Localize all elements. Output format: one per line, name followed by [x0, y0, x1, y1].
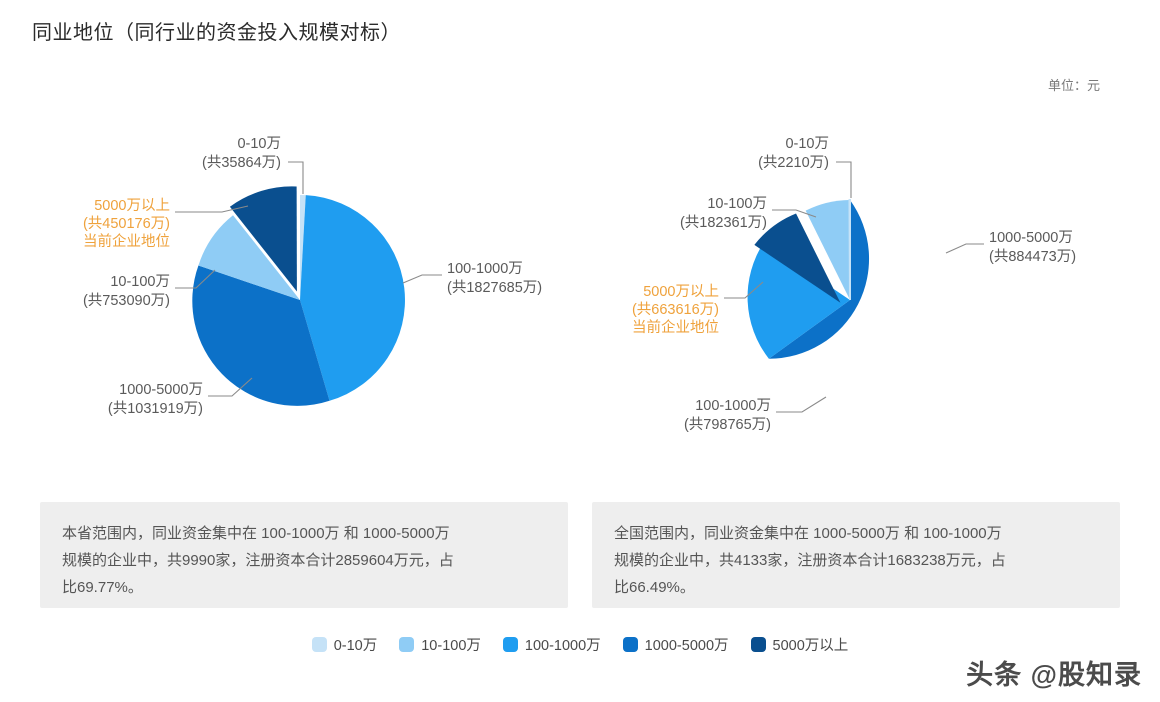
chart-legend: 0-10万 10-100万 100-1000万 1000-5000万 5000万… — [0, 634, 1160, 655]
legend-item-label: 0-10万 — [334, 634, 378, 655]
summary-note-national: 全国范围内，同业资金集中在 1000-5000万 和 100-1000万 规模的… — [592, 502, 1120, 608]
leader-line-100-1000 — [403, 275, 442, 283]
legend-item-1000-5000[interactable]: 1000-5000万 — [623, 634, 729, 655]
legend-item-label: 10-100万 — [421, 634, 481, 655]
legend-swatch-icon — [751, 637, 766, 652]
pie-chart-national: 0-10万 (共2210万) 10-100万 (共182361万) 5000万以… — [580, 120, 1160, 480]
summary-note-province-line2: 规模的企业中，共9990家，注册资本合计2859604万元，占 — [62, 547, 546, 574]
label-0-10-line2: (共35864万) — [202, 154, 281, 171]
legend-item-label: 1000-5000万 — [645, 634, 729, 655]
label-100-1000-line1: 100-1000万 — [695, 398, 771, 414]
label-5000-up-line2: (共450176万) — [83, 215, 170, 232]
label-0-10-line1: 0-10万 — [785, 136, 829, 152]
legend-item-5000-up[interactable]: 5000万以上 — [751, 634, 849, 655]
legend-swatch-icon — [312, 637, 327, 652]
label-1000-5000-line2: (共884473万) — [989, 248, 1076, 265]
legend-item-label: 100-1000万 — [525, 634, 601, 655]
label-10-100-line1: 10-100万 — [110, 274, 170, 290]
label-100-1000-line2: (共1827685万) — [447, 279, 542, 296]
label-5000-up-line1: 5000万以上 — [94, 197, 170, 214]
label-5000-up-line3: 当前企业地位 — [632, 318, 719, 336]
legend-swatch-icon — [623, 637, 638, 652]
pie-chart-province: 0-10万 (共35864万) 5000万以上 (共450176万) 当前企业地… — [0, 120, 580, 480]
pie-svg-national: 0-10万 (共2210万) 10-100万 (共182361万) 5000万以… — [580, 120, 1160, 480]
summary-note-national-line2: 规模的企业中，共4133家，注册资本合计1683238万元，占 — [614, 547, 1098, 574]
summary-note-province-line1: 本省范围内，同业资金集中在 100-1000万 和 1000-5000万 — [62, 520, 546, 547]
label-10-100-line2: (共753090万) — [83, 292, 170, 309]
unit-label: 单位：元 — [1048, 75, 1100, 94]
label-100-1000-line1: 100-1000万 — [447, 261, 523, 277]
summary-note-province-line3: 比69.77%。 — [62, 574, 546, 601]
leader-line-100-1000 — [776, 397, 826, 412]
watermark: 头条 @股知录 — [966, 653, 1142, 692]
label-5000-up-line2: (共663616万) — [632, 301, 719, 318]
label-0-10-line2: (共2210万) — [758, 154, 829, 171]
legend-swatch-icon — [399, 637, 414, 652]
leader-line-1000-5000 — [946, 244, 984, 253]
label-1000-5000-line1: 1000-5000万 — [989, 230, 1073, 246]
legend-item-label: 5000万以上 — [773, 634, 849, 655]
legend-swatch-icon — [503, 637, 518, 652]
legend-item-10-100[interactable]: 10-100万 — [399, 634, 481, 655]
pie-slice-0-10[interactable] — [849, 200, 850, 300]
summary-note-national-line3: 比66.49%。 — [614, 574, 1098, 601]
label-1000-5000-line2: (共1031919万) — [108, 400, 203, 417]
label-10-100-line1: 10-100万 — [707, 196, 767, 212]
summary-note-national-line1: 全国范围内，同业资金集中在 1000-5000万 和 100-1000万 — [614, 520, 1098, 547]
pie-svg-province: 0-10万 (共35864万) 5000万以上 (共450176万) 当前企业地… — [0, 120, 580, 480]
summary-note-province: 本省范围内，同业资金集中在 100-1000万 和 1000-5000万 规模的… — [40, 502, 568, 608]
leader-line-0-10 — [836, 162, 851, 198]
label-1000-5000-line1: 1000-5000万 — [119, 382, 203, 398]
label-0-10-line1: 0-10万 — [237, 136, 281, 152]
legend-item-0-10[interactable]: 0-10万 — [312, 634, 378, 655]
label-5000-up-line1: 5000万以上 — [643, 283, 719, 300]
label-5000-up-line3: 当前企业地位 — [83, 232, 170, 250]
label-10-100-line2: (共182361万) — [680, 214, 767, 231]
label-100-1000-line2: (共798765万) — [684, 416, 771, 433]
legend-item-100-1000[interactable]: 100-1000万 — [503, 634, 601, 655]
page-title: 同业地位（同行业的资金投入规模对标） — [32, 16, 401, 45]
